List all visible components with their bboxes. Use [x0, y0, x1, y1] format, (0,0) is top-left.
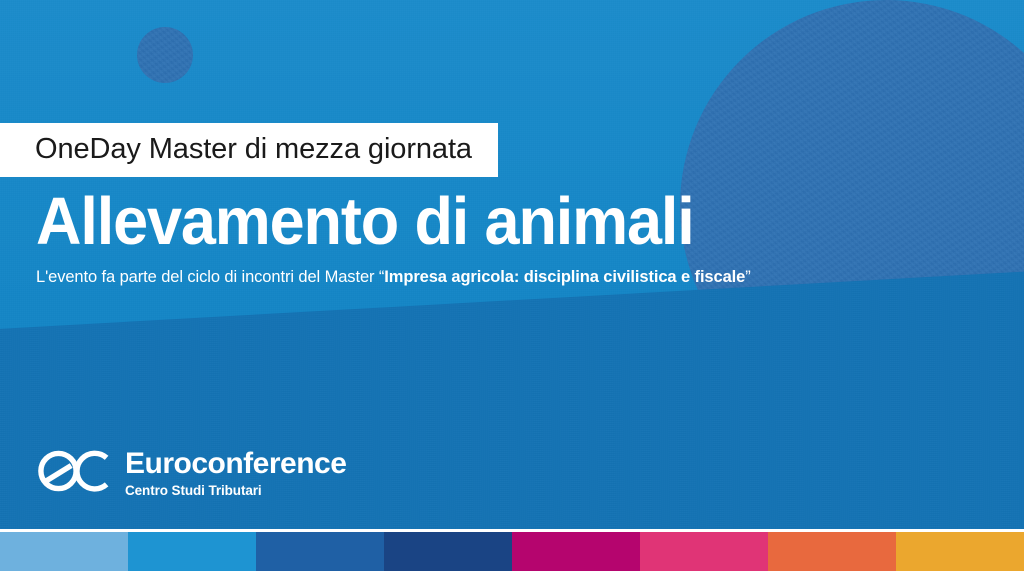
logo-subtitle: Centro Studi Tributari — [125, 484, 346, 498]
euroconference-logo: Euroconference Centro Studi Tributari — [36, 448, 346, 499]
swatch-magenta — [512, 532, 640, 571]
event-kicker: OneDay Master di mezza giornata — [0, 123, 498, 177]
swatch-pink — [640, 532, 768, 571]
event-title: Allevamento di animali — [36, 188, 694, 255]
swatch-dark-blue — [384, 532, 512, 571]
swatch-medium-blue — [256, 532, 384, 571]
brand-color-bar — [0, 532, 1024, 571]
ec-monogram-icon — [36, 448, 112, 499]
logo-title: Euroconference — [125, 449, 346, 479]
swatch-light-blue — [0, 532, 128, 571]
logo-wordmark: Euroconference Centro Studi Tributari — [125, 449, 346, 498]
swatch-blue — [128, 532, 256, 571]
swatch-orange — [768, 532, 896, 571]
event-subtitle-suffix: ” — [745, 268, 750, 286]
event-subtitle: L'evento fa parte del ciclo di incontri … — [36, 268, 751, 288]
event-subtitle-prefix: L'evento fa parte del ciclo di incontri … — [36, 268, 384, 286]
banner-content: OneDay Master di mezza giornata Allevame… — [0, 0, 1024, 571]
event-subtitle-master-name: Impresa agricola: disciplina civilistica… — [384, 268, 745, 286]
swatch-amber — [896, 532, 1024, 571]
event-banner: OneDay Master di mezza giornata Allevame… — [0, 0, 1024, 571]
